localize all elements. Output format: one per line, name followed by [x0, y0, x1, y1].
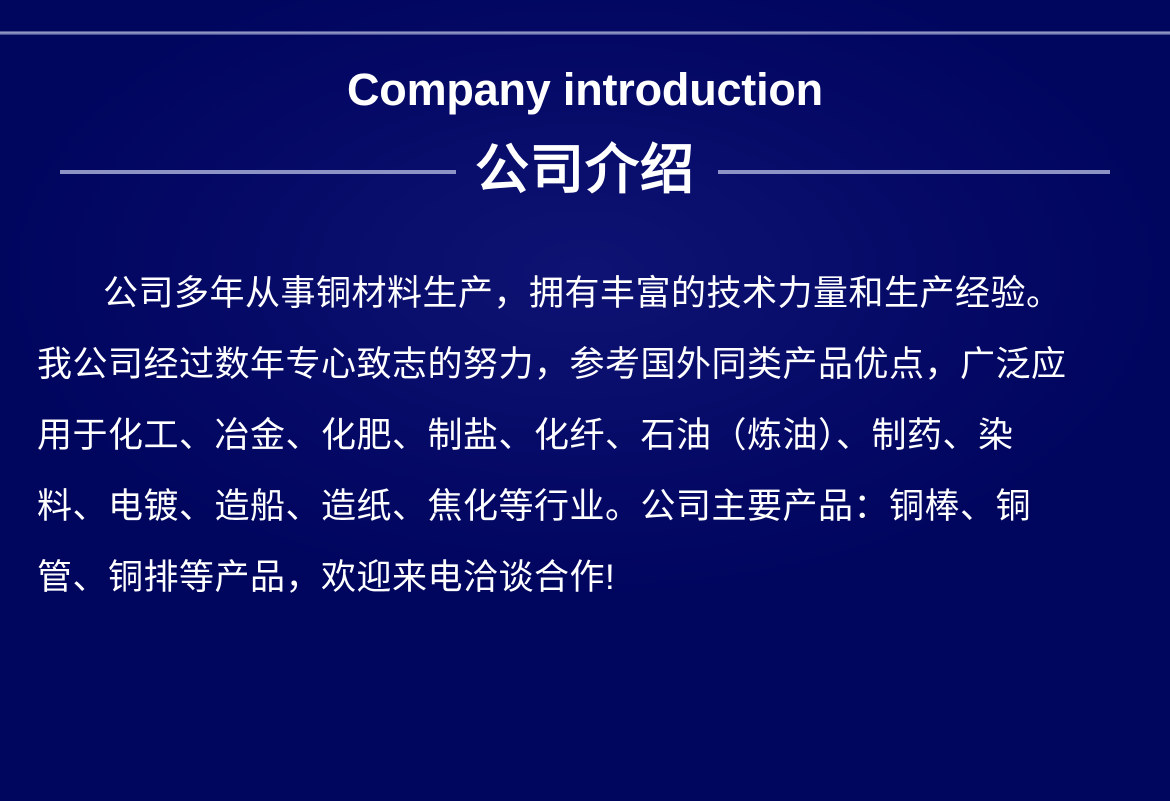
page-title-english: Company introduction	[0, 64, 1170, 116]
company-description-body: 公司多年从事铜材料生产，拥有丰富的技术力量和生产经验。 我公司经过数年专心致志的…	[37, 258, 1133, 613]
body-line: 我公司经过数年专心致志的努力，参考国外同类产品优点，广泛应	[37, 329, 1133, 400]
slide-header: Company introduction 公司介绍	[0, 0, 1170, 222]
company-introduction-slide: Company introduction 公司介绍 公司多年从事铜材料生产，拥有…	[0, 0, 1170, 801]
subtitle-row: 公司介绍	[0, 134, 1170, 210]
body-line: 用于化工、冶金、化肥、制盐、化纤、石油（炼油）、制药、染	[37, 400, 1133, 471]
page-title-chinese: 公司介绍	[0, 134, 1170, 206]
body-line: 公司多年从事铜材料生产，拥有丰富的技术力量和生产经验。	[37, 258, 1133, 329]
body-line: 管、铜排等产品，欢迎来电洽谈合作!	[37, 542, 1133, 613]
body-line: 料、电镀、造船、造纸、焦化等行业。公司主要产品：铜棒、铜	[37, 471, 1133, 542]
